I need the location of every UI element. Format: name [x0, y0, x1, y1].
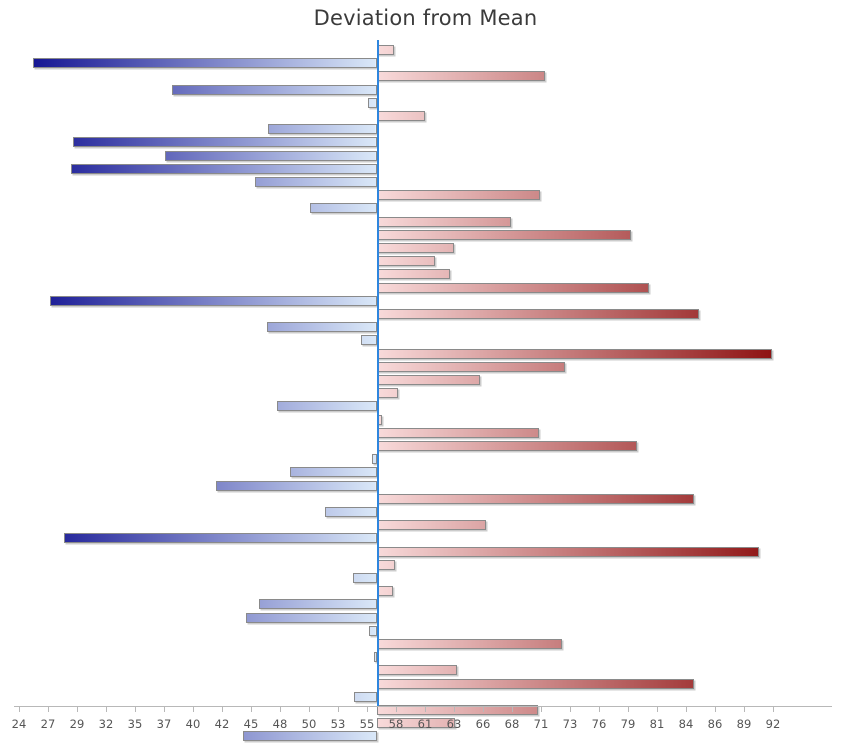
- bar-row: [0, 84, 851, 97]
- x-axis-tick: [222, 706, 223, 712]
- x-axis-tick: [280, 706, 281, 712]
- x-axis-tick: [135, 706, 136, 712]
- bar-row: [0, 598, 851, 611]
- bar-positive[interactable]: [377, 230, 631, 240]
- x-axis-tick: [541, 706, 542, 712]
- bar-row: [0, 334, 851, 347]
- bar-row: [0, 255, 851, 268]
- bar-negative[interactable]: [354, 692, 377, 702]
- x-axis-tick: [599, 706, 600, 712]
- x-axis-tick-label: 76: [592, 717, 607, 731]
- bar-row: [0, 532, 851, 545]
- x-axis-tick-label: 79: [621, 717, 636, 731]
- x-axis-tick: [657, 706, 658, 712]
- bar-positive[interactable]: [377, 190, 540, 200]
- bar-negative[interactable]: [290, 467, 378, 477]
- bar-row: [0, 97, 851, 110]
- bar-row: [0, 282, 851, 295]
- bar-row: [0, 189, 851, 202]
- bar-row: [0, 348, 851, 361]
- bar-row: [0, 625, 851, 638]
- x-axis-tick-label: 35: [128, 717, 143, 731]
- bar-positive[interactable]: [377, 45, 394, 55]
- x-axis-tick-label: 40: [186, 717, 201, 731]
- bar-row: [0, 440, 851, 453]
- bar-negative[interactable]: [246, 613, 377, 623]
- bar-row: [0, 321, 851, 334]
- bar-negative[interactable]: [277, 401, 377, 411]
- bar-negative[interactable]: [165, 151, 377, 161]
- bar-negative[interactable]: [73, 137, 377, 147]
- bar-row: [0, 242, 851, 255]
- x-axis-tick: [744, 706, 745, 712]
- x-axis-tick-label: 81: [650, 717, 665, 731]
- bar-row: [0, 361, 851, 374]
- bar-positive[interactable]: [377, 283, 649, 293]
- bar-positive[interactable]: [377, 349, 772, 359]
- x-axis-tick-label: 71: [534, 717, 549, 731]
- bar-positive[interactable]: [377, 560, 395, 570]
- chart-title: Deviation from Mean: [0, 6, 851, 30]
- bar-row: [0, 691, 851, 704]
- bar-row: [0, 519, 851, 532]
- bar-positive[interactable]: [377, 375, 480, 385]
- x-axis-tick: [686, 706, 687, 712]
- deviation-from-mean-chart: Deviation from Mean 24272932353740424548…: [0, 0, 851, 749]
- x-axis-tick-label: 61: [418, 717, 433, 731]
- bar-negative[interactable]: [310, 203, 378, 213]
- bar-row: [0, 387, 851, 400]
- bar-row: [0, 651, 851, 664]
- x-axis-tick-label: 48: [273, 717, 288, 731]
- bar-positive[interactable]: [377, 665, 457, 675]
- bar-row: [0, 176, 851, 189]
- bar-positive[interactable]: [377, 639, 562, 649]
- bar-row: [0, 678, 851, 691]
- bar-negative[interactable]: [369, 626, 377, 636]
- x-axis-tick: [454, 706, 455, 712]
- bar-positive[interactable]: [377, 217, 511, 227]
- bar-negative[interactable]: [259, 599, 378, 609]
- x-axis-tick-label: 68: [505, 717, 520, 731]
- bar-row: [0, 308, 851, 321]
- x-axis-tick-label: 63: [447, 717, 462, 731]
- x-axis-tick: [19, 706, 20, 712]
- bar-row: [0, 163, 851, 176]
- bar-row: [0, 295, 851, 308]
- bar-negative[interactable]: [255, 177, 377, 187]
- bar-row: [0, 57, 851, 70]
- bar-row: [0, 216, 851, 229]
- x-axis-tick-label: 37: [157, 717, 172, 731]
- bar-positive[interactable]: [377, 111, 425, 121]
- bar-row: [0, 480, 851, 493]
- x-axis-tick: [483, 706, 484, 712]
- bar-positive[interactable]: [377, 547, 758, 557]
- x-axis-tick: [106, 706, 107, 712]
- bar-row: [0, 44, 851, 57]
- bar-negative[interactable]: [353, 573, 377, 583]
- x-axis-tick-label: 55: [360, 717, 375, 731]
- x-axis-tick: [715, 706, 716, 712]
- x-axis: 2427293235374042454850535558616366687173…: [0, 706, 851, 749]
- x-axis-tick: [396, 706, 397, 712]
- bar-positive[interactable]: [377, 269, 450, 279]
- bar-row: [0, 493, 851, 506]
- x-axis-tick: [251, 706, 252, 712]
- x-axis-tick-label: 89: [737, 717, 752, 731]
- x-axis-tick-label: 92: [766, 717, 781, 731]
- bar-negative[interactable]: [71, 164, 377, 174]
- x-axis-tick: [570, 706, 571, 712]
- x-axis-tick-label: 24: [12, 717, 27, 731]
- bar-negative[interactable]: [216, 481, 377, 491]
- x-axis-tick-label: 32: [99, 717, 114, 731]
- x-axis-tick: [628, 706, 629, 712]
- bar-positive[interactable]: [377, 71, 544, 81]
- x-axis-tick: [48, 706, 49, 712]
- x-axis-tick: [309, 706, 310, 712]
- bar-positive[interactable]: [377, 256, 435, 266]
- x-axis-tick: [193, 706, 194, 712]
- bar-positive[interactable]: [377, 441, 636, 451]
- bar-row: [0, 585, 851, 598]
- x-axis-tick: [773, 706, 774, 712]
- bar-row: [0, 400, 851, 413]
- bar-row: [0, 414, 851, 427]
- x-axis-tick: [77, 706, 78, 712]
- bar-row: [0, 123, 851, 136]
- mean-baseline: [377, 40, 379, 706]
- bar-row: [0, 70, 851, 83]
- bar-row: [0, 110, 851, 123]
- bar-negative[interactable]: [325, 507, 377, 517]
- x-axis-tick-label: 84: [679, 717, 694, 731]
- bar-row: [0, 466, 851, 479]
- bar-negative[interactable]: [268, 124, 377, 134]
- plot-area: [0, 40, 851, 698]
- bar-row: [0, 136, 851, 149]
- bar-positive[interactable]: [377, 586, 393, 596]
- x-axis-tick-label: 27: [41, 717, 56, 731]
- bar-row: [0, 268, 851, 281]
- bar-negative[interactable]: [267, 322, 377, 332]
- bar-negative[interactable]: [64, 533, 377, 543]
- bar-positive[interactable]: [377, 309, 699, 319]
- x-axis-tick: [164, 706, 165, 712]
- bar-row: [0, 374, 851, 387]
- x-axis-line: [14, 706, 832, 707]
- bar-positive[interactable]: [377, 362, 564, 372]
- x-axis-tick-label: 86: [708, 717, 723, 731]
- x-axis-tick-label: 50: [302, 717, 317, 731]
- bar-positive[interactable]: [377, 388, 398, 398]
- x-axis-tick: [367, 706, 368, 712]
- x-axis-tick-label: 42: [215, 717, 230, 731]
- bar-positive[interactable]: [377, 243, 454, 253]
- x-axis-tick: [512, 706, 513, 712]
- bar-row: [0, 612, 851, 625]
- bar-positive[interactable]: [377, 494, 694, 504]
- bar-row: [0, 546, 851, 559]
- bar-row: [0, 150, 851, 163]
- x-axis-tick-label: 73: [563, 717, 578, 731]
- bar-row: [0, 559, 851, 572]
- bar-negative[interactable]: [368, 98, 377, 108]
- bar-negative[interactable]: [50, 296, 377, 306]
- bar-negative[interactable]: [361, 335, 378, 345]
- x-axis-tick-label: 66: [476, 717, 491, 731]
- bar-row: [0, 572, 851, 585]
- bar-row: [0, 202, 851, 215]
- bar-row: [0, 427, 851, 440]
- bar-row: [0, 638, 851, 651]
- x-axis-tick-label: 58: [389, 717, 404, 731]
- bar-row: [0, 453, 851, 466]
- x-axis-tick-label: 53: [331, 717, 346, 731]
- x-axis-tick: [338, 706, 339, 712]
- bar-row: [0, 506, 851, 519]
- x-axis-tick-label: 45: [244, 717, 259, 731]
- bar-negative[interactable]: [172, 85, 377, 95]
- bar-positive[interactable]: [377, 428, 539, 438]
- bar-row: [0, 664, 851, 677]
- x-axis-tick-label: 29: [70, 717, 85, 731]
- bar-positive[interactable]: [377, 520, 486, 530]
- bar-positive[interactable]: [377, 679, 694, 689]
- x-axis-tick: [425, 706, 426, 712]
- bar-row: [0, 229, 851, 242]
- bar-negative[interactable]: [33, 58, 377, 68]
